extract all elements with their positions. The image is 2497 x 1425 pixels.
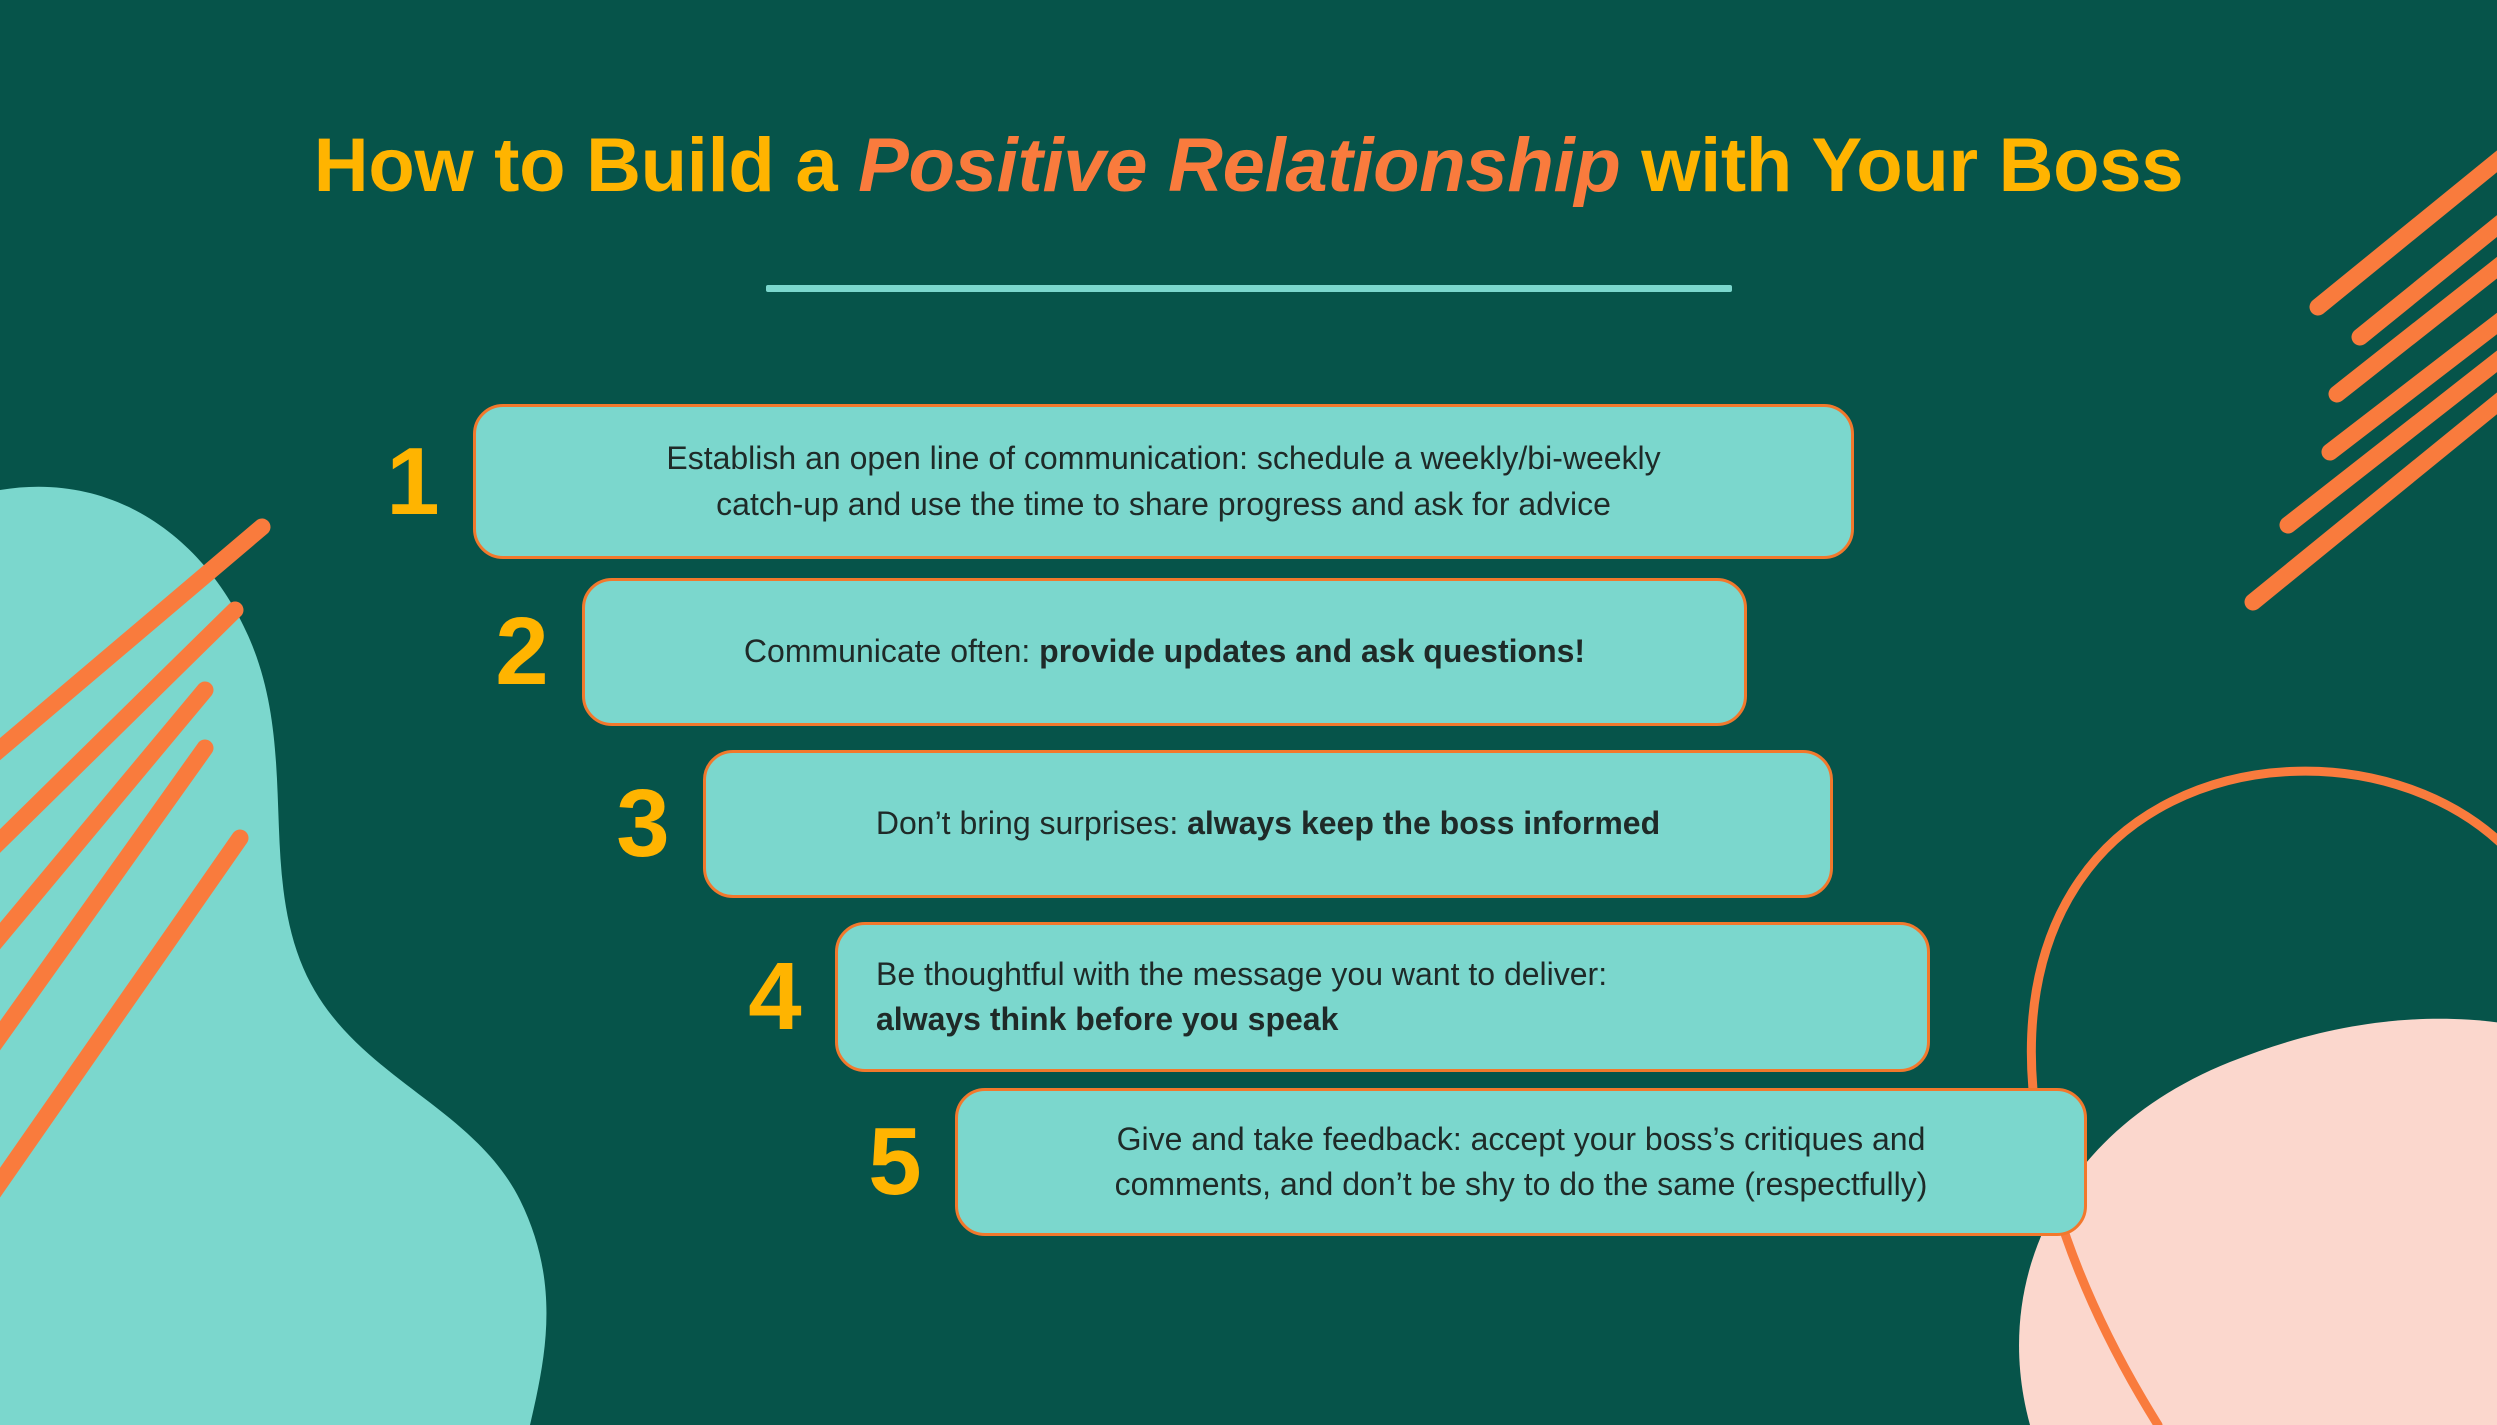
- item-5-line-1: Give and take feedback: accept your boss…: [996, 1117, 2046, 1162]
- tr-stripe-4: [2330, 275, 2497, 452]
- title-part-1: How to Build a: [314, 123, 858, 208]
- left-stripe-3: [0, 690, 205, 1008]
- item-5-line-1-text: Give and take feedback: accept your boss…: [1117, 1121, 1926, 1157]
- list-item-5: 5 Give and take feedback: accept your bo…: [835, 1088, 2087, 1236]
- item-number-1: 1: [353, 434, 473, 530]
- item-3-line-1-text: Don’t bring surprises:: [876, 805, 1187, 841]
- item-5-line-2-text: comments, and don’t be shy to do the sam…: [1115, 1166, 1928, 1202]
- item-3-line-1: Don’t bring surprises: always keep the b…: [744, 801, 1792, 846]
- page-title: How to Build a Positive Relationship wit…: [0, 128, 2497, 204]
- tr-stripe-6: [2253, 352, 2497, 602]
- tr-stripe-3: [2337, 218, 2497, 394]
- list-item-3: 3 Don’t bring surprises: always keep the…: [583, 750, 1833, 898]
- list-item-2: 2 Communicate often: provide updates and…: [462, 578, 1747, 726]
- item-2-line-1-text: Communicate often:: [744, 633, 1039, 669]
- left-stripe-group: [0, 527, 262, 1240]
- item-4-line-1: Be thoughtful with the message you want …: [876, 952, 1889, 997]
- item-card-2[interactable]: Communicate often: provide updates and a…: [582, 578, 1747, 726]
- left-stripe-5: [0, 838, 240, 1240]
- item-1-line-2-text: catch-up and use the time to share progr…: [716, 486, 1611, 522]
- list-item-1: 1 Establish an open line of communicatio…: [353, 404, 1854, 559]
- title-divider: [766, 285, 1732, 292]
- item-1-line-1: Establish an open line of communication:…: [514, 436, 1813, 481]
- pink-blob-shape: [2019, 1019, 2497, 1425]
- item-1-line-2: catch-up and use the time to share progr…: [514, 482, 1813, 527]
- item-2-line-1: Communicate often: provide updates and a…: [623, 629, 1706, 674]
- item-1-line-1-text: Establish an open line of communication:…: [666, 440, 1660, 476]
- item-3-line-1-bold: always keep the boss informed: [1187, 805, 1660, 841]
- item-card-4[interactable]: Be thoughtful with the message you want …: [835, 922, 1930, 1072]
- item-card-1[interactable]: Establish an open line of communication:…: [473, 404, 1854, 559]
- item-number-3: 3: [583, 776, 703, 872]
- item-4-line-1-text: Be thoughtful with the message you want …: [876, 956, 1607, 992]
- title-part-3: with Your Boss: [1620, 123, 2183, 208]
- item-4-line-2: always think before you speak: [876, 997, 1889, 1042]
- left-stripe-1: [0, 527, 262, 800]
- item-number-4: 4: [715, 949, 835, 1045]
- orange-outline-curve: [2031, 771, 2497, 1425]
- list-item-4: 4 Be thoughtful with the message you wan…: [715, 922, 1930, 1072]
- left-stripe-2: [0, 610, 235, 900]
- item-4-line-2-bold: always think before you speak: [876, 1001, 1338, 1037]
- title-emphasis: Positive Relationship: [858, 123, 1620, 208]
- infographic-canvas: How to Build a Positive Relationship wit…: [0, 0, 2497, 1425]
- item-5-line-2: comments, and don’t be shy to do the sam…: [996, 1162, 2046, 1207]
- tr-stripe-5: [2288, 312, 2497, 525]
- item-number-2: 2: [462, 604, 582, 700]
- item-card-3[interactable]: Don’t bring surprises: always keep the b…: [703, 750, 1833, 898]
- left-stripe-4: [0, 748, 205, 1120]
- item-card-5[interactable]: Give and take feedback: accept your boss…: [955, 1088, 2087, 1236]
- item-number-5: 5: [835, 1114, 955, 1210]
- item-2-line-1-bold: provide updates and ask questions!: [1039, 633, 1585, 669]
